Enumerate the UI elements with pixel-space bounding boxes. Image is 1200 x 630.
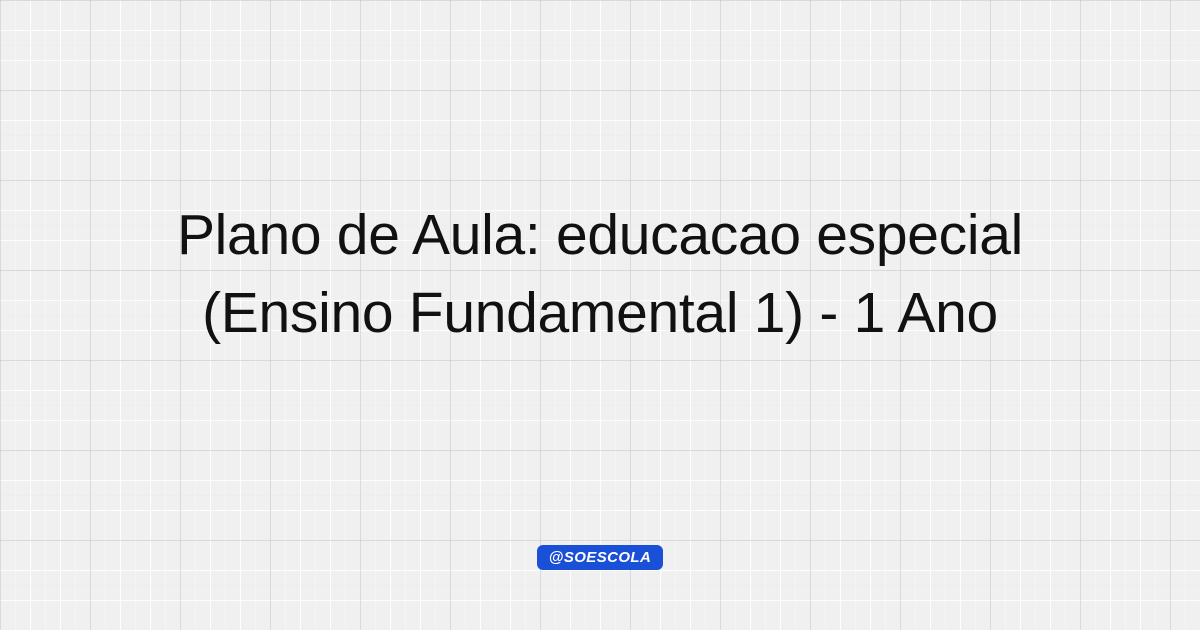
poster-canvas: Plano de Aula: educacao especial (Ensino… <box>0 0 1200 630</box>
page-title-line-2: (Ensino Fundamental 1) - 1 Ano <box>40 274 1160 352</box>
page-title-line-1: Plano de Aula: educacao especial <box>40 196 1160 274</box>
page-title: Plano de Aula: educacao especial (Ensino… <box>0 196 1200 352</box>
watermark-badge-container: @SOESCOLA <box>0 545 1200 570</box>
watermark-badge: @SOESCOLA <box>537 545 663 570</box>
